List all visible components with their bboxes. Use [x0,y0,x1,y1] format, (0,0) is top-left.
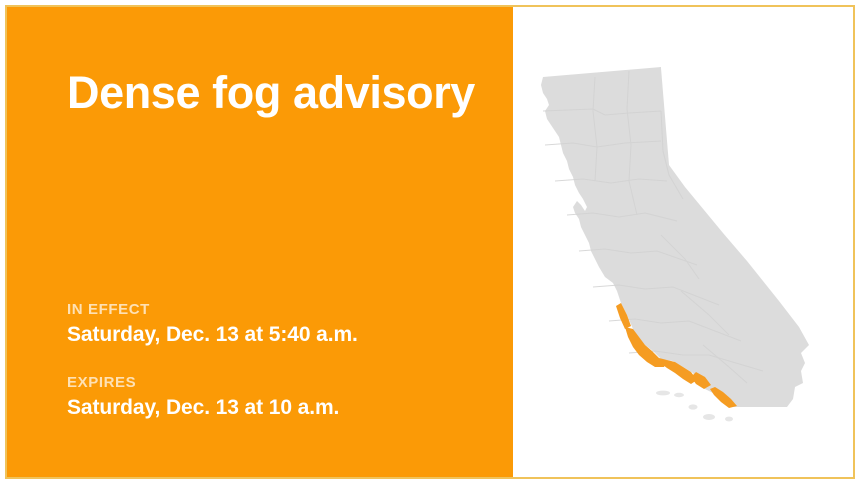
in-effect-value: Saturday, Dec. 13 at 5:40 a.m. [67,322,483,348]
expires-value: Saturday, Dec. 13 at 10 a.m. [67,395,483,421]
alert-map-panel [513,7,853,477]
california-map [533,15,833,470]
expires-label: EXPIRES [67,374,483,392]
weather-alert-card: Dense fog advisory IN EFFECT Saturday, D… [0,0,860,485]
california-state-shape [541,67,809,407]
alert-card-inner: Dense fog advisory IN EFFECT Saturday, D… [5,5,855,479]
alert-info-panel: Dense fog advisory IN EFFECT Saturday, D… [7,7,513,477]
alert-in-effect-group: IN EFFECT Saturday, Dec. 13 at 5:40 a.m. [67,301,483,348]
alert-timing-block: IN EFFECT Saturday, Dec. 13 at 5:40 a.m.… [7,301,513,478]
alert-title: Dense fog advisory [7,7,513,116]
in-effect-label: IN EFFECT [67,301,483,319]
alert-expires-group: EXPIRES Saturday, Dec. 13 at 10 a.m. [67,374,483,421]
